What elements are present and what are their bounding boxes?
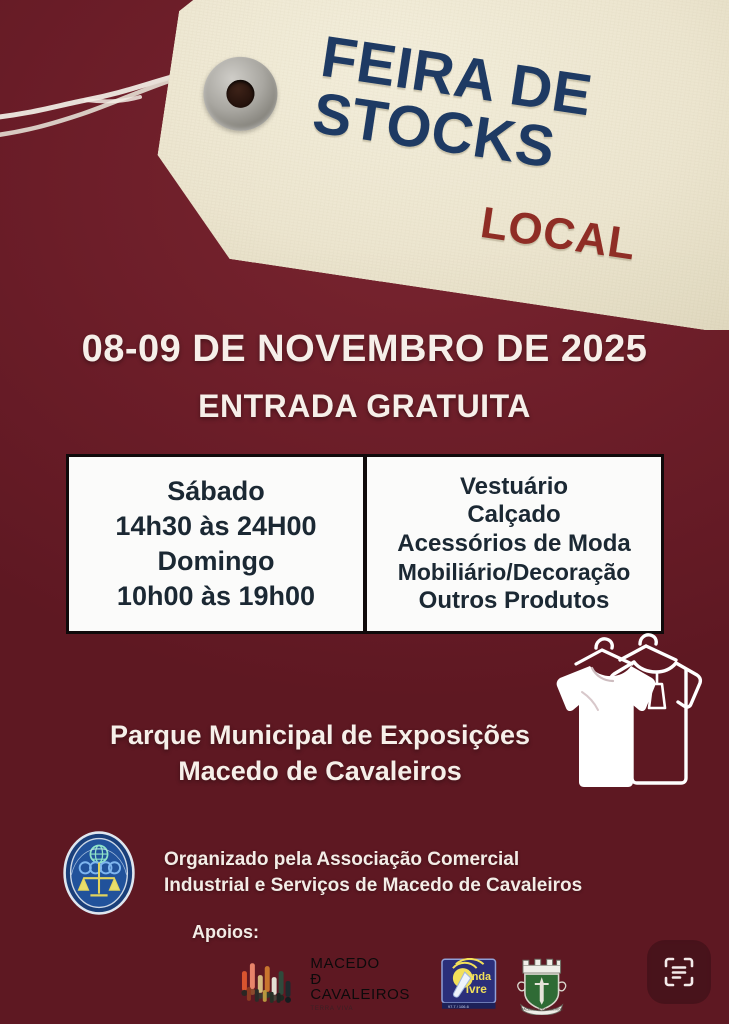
onda-livre-radio-logo: nda ivre 97.7 / 106.6 xyxy=(441,958,496,1010)
event-dates: 08-09 DE NOVEMBRO DE 2025 xyxy=(0,328,729,371)
macedo-line2: Ð CAVALEIROS xyxy=(310,972,425,1003)
macedo-subline: TERRA VIVA xyxy=(310,1006,425,1012)
hours-line: Domingo xyxy=(158,544,275,579)
info-boxes: Sábado 14h30 às 24H00 Domingo 10h00 às 1… xyxy=(66,454,664,634)
price-tag-body: FEIRA DE STOCKS LOCAL xyxy=(144,0,729,330)
venue-line1: Parque Municipal de Exposições xyxy=(0,718,640,754)
product-categories-box: Vestuário Calçado Acessórios de Moda Mob… xyxy=(367,457,661,631)
supporters-logos: MACEDO Ð CAVALEIROS TERRA VIVA nda ivre … xyxy=(240,948,570,1020)
category-line: Mobiliário/Decoração xyxy=(398,559,631,587)
opening-hours-box: Sábado 14h30 às 24H00 Domingo 10h00 às 1… xyxy=(69,457,363,631)
organizer-line1: Organizado pela Associação Comercial xyxy=(164,847,582,873)
admission-notice: ENTRADA GRATUITA xyxy=(0,388,729,425)
category-line: Calçado xyxy=(467,501,560,530)
livre-text: ivre xyxy=(466,982,488,996)
macedo-line1: MACEDO xyxy=(310,956,425,972)
macedo-wordmark: MACEDO Ð CAVALEIROS TERRA VIVA xyxy=(310,956,425,1012)
category-line: Outros Produtos xyxy=(419,587,610,616)
hours-line: 14h30 às 24H00 xyxy=(115,509,316,544)
macedo-coat-of-arms: MACEDO DE CAVALEIROS xyxy=(513,953,570,1015)
macedo-figures-icon xyxy=(240,959,303,1009)
venue-location: Parque Municipal de Exposições Macedo de… xyxy=(0,718,640,789)
scan-text-icon xyxy=(662,955,696,989)
supporters-label: Apoios: xyxy=(192,922,259,943)
category-line: Vestuário xyxy=(460,473,568,502)
macedo-de-cavaleiros-municipality-logo: MACEDO Ð CAVALEIROS TERRA VIVA xyxy=(240,956,425,1012)
poster-canvas: FEIRA DE STOCKS LOCAL 08-09 DE NOVEMBRO … xyxy=(0,0,729,1024)
hours-line: Sábado xyxy=(167,474,265,509)
category-line: Acessórios de Moda xyxy=(397,530,630,559)
organizer-line2: Industrial e Serviços de Macedo de Caval… xyxy=(164,873,582,899)
hours-line: 10h00 às 19h00 xyxy=(117,579,315,614)
organizer-row: Organizado pela Associação Comercial Ind… xyxy=(56,830,656,916)
organizer-text: Organizado pela Associação Comercial Ind… xyxy=(164,847,582,899)
scan-text-button[interactable] xyxy=(647,940,711,1004)
grommet-hole xyxy=(225,78,257,110)
price-tag-illustration: FEIRA DE STOCKS LOCAL xyxy=(0,0,729,330)
onda-frequency: 97.7 / 106.6 xyxy=(448,1004,470,1009)
coat-of-arms-banner-text: MACEDO DE CAVALEIROS xyxy=(520,1008,563,1012)
acismc-logo xyxy=(56,830,142,916)
venue-line2: Macedo de Cavaleiros xyxy=(0,754,640,790)
